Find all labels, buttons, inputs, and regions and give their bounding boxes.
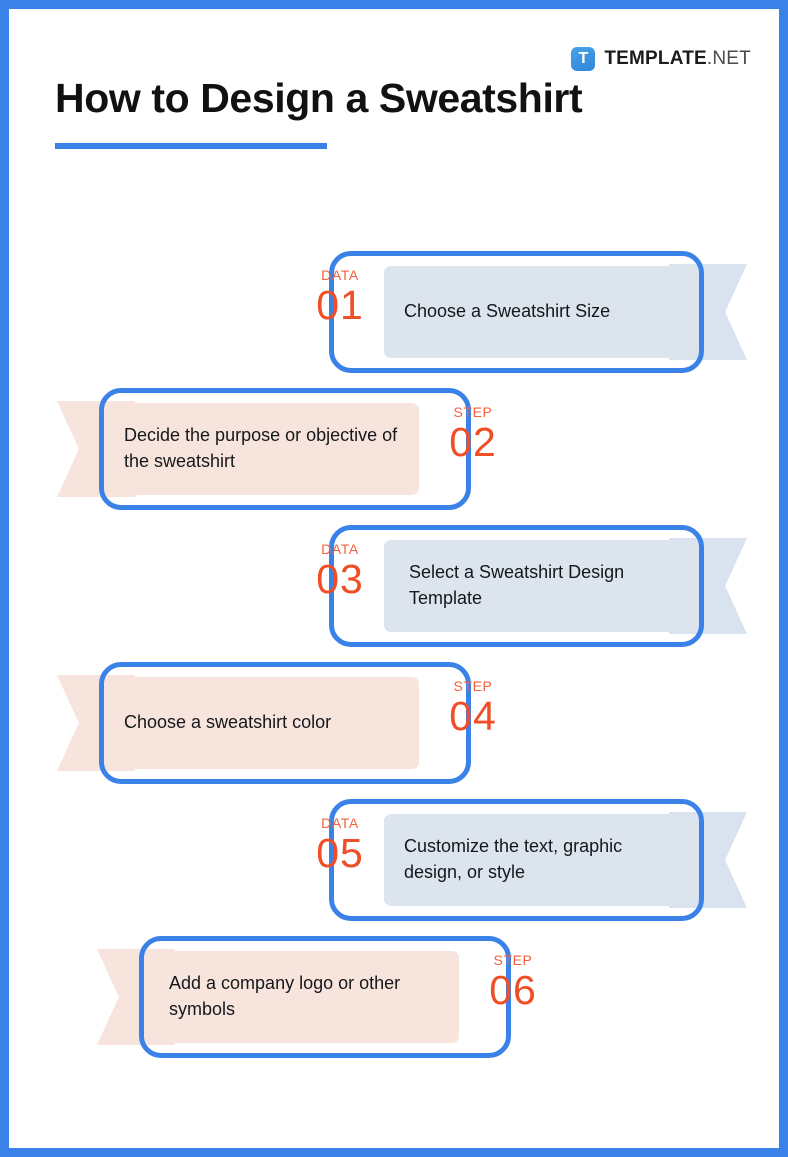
step-row: Decide the purpose or objective of the s… (9, 381, 779, 518)
steps-list: Choose a Sweatshirt SizeDATA01Decide the… (9, 244, 779, 1066)
step-number: 03 (294, 557, 386, 603)
infographic-page: T TEMPLATE.NET How to Design a Sweatshir… (0, 0, 788, 1157)
step-text: Choose a Sweatshirt Size (384, 299, 630, 325)
step-panel: Choose a Sweatshirt Size (384, 266, 699, 358)
step-label: STEP (427, 405, 519, 420)
step-row: Choose a Sweatshirt SizeDATA01 (9, 244, 779, 381)
step-number-block: STEP06 (467, 953, 559, 1014)
page-title: How to Design a Sweatshirt (55, 75, 582, 122)
step-text: Select a Sweatshirt Design Template (384, 560, 699, 611)
template-net-logo-icon: T (571, 47, 595, 71)
step-row: Select a Sweatshirt Design TemplateDATA0… (9, 518, 779, 655)
brand-logo: T TEMPLATE.NET (571, 47, 751, 71)
brand-wordmark: TEMPLATE.NET (604, 48, 751, 70)
step-label: DATA (294, 268, 386, 283)
step-label: STEP (467, 953, 559, 968)
step-number: 04 (427, 694, 519, 740)
step-label: DATA (294, 542, 386, 557)
brand-name-tld: .NET (707, 48, 751, 69)
logo-letter: T (578, 51, 588, 67)
step-row: Customize the text, graphic design, or s… (9, 792, 779, 929)
step-number-block: STEP02 (427, 405, 519, 466)
step-panel: Choose a sweatshirt color (104, 677, 419, 769)
step-text: Choose a sweatshirt color (104, 710, 351, 736)
step-number-block: DATA05 (294, 816, 386, 877)
step-panel: Decide the purpose or objective of the s… (104, 403, 419, 495)
title-underline-rule (55, 143, 327, 149)
step-number: 02 (427, 420, 519, 466)
step-row: Add a company logo or other symbolsSTEP0… (9, 929, 779, 1066)
step-number: 06 (467, 968, 559, 1014)
step-panel: Add a company logo or other symbols (144, 951, 459, 1043)
step-text: Customize the text, graphic design, or s… (384, 834, 699, 885)
step-panel: Select a Sweatshirt Design Template (384, 540, 699, 632)
step-number-block: DATA03 (294, 542, 386, 603)
step-text: Decide the purpose or objective of the s… (104, 423, 419, 474)
step-label: STEP (427, 679, 519, 694)
brand-name-bold: TEMPLATE (604, 48, 707, 69)
step-row: Choose a sweatshirt colorSTEP04 (9, 655, 779, 792)
step-label: DATA (294, 816, 386, 831)
step-number: 01 (294, 283, 386, 329)
step-text: Add a company logo or other symbols (144, 971, 459, 1022)
step-panel: Customize the text, graphic design, or s… (384, 814, 699, 906)
step-number: 05 (294, 831, 386, 877)
step-number-block: DATA01 (294, 268, 386, 329)
step-number-block: STEP04 (427, 679, 519, 740)
